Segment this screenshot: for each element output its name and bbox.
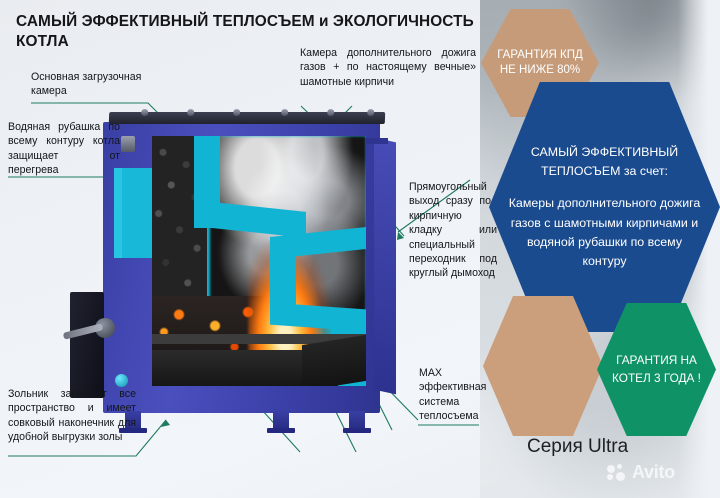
avito-wordmark: Avito <box>632 462 675 483</box>
boiler-side-panel <box>374 138 396 395</box>
indicator-lamp <box>115 374 128 387</box>
callout-ash-pan: Зольник занимает все пространство и имее… <box>8 387 136 445</box>
boiler-door <box>70 292 104 398</box>
boiler-valve <box>121 136 135 152</box>
badge-main-title: САМЫЙ ЭФФЕКТИВНЫЙ ТЕПЛОСЪЕМ за счет: <box>505 143 704 181</box>
callout-flue-outlet: Прямоугольный выход сразу под кирпичную … <box>409 180 497 281</box>
badge-main-spacer <box>505 181 704 194</box>
boiler-illustration <box>103 122 380 413</box>
ash-pan-side <box>302 335 366 386</box>
boiler-top-bar <box>109 112 385 124</box>
callout-water-jacket: Водяная рубашка по всему контуру котла з… <box>8 120 120 178</box>
water-jacket-edge <box>114 168 122 258</box>
series-label: Серия Ultra <box>527 436 628 458</box>
badge-warranty-text: ГАРАНТИЯ НА КОТЕЛ 3 ГОДА ! <box>597 352 716 387</box>
boiler-foot <box>343 428 371 433</box>
callout-main-chamber: Основная загрузочная камера <box>31 70 169 99</box>
badge-main-body: Камеры дополнительного дожига газов с ша… <box>505 194 704 271</box>
avito-logo-icon <box>607 464 628 481</box>
boiler-foot <box>267 428 295 433</box>
promo-banner: САМЫЙ ЭФФЕКТИВНЫЙ ТЕПЛОСЪЕМ и ЭКОЛОГИЧНО… <box>0 0 720 498</box>
avito-watermark: Avito <box>607 462 675 483</box>
callout-afterburn-chamber: Камера дополнительного дожига газов + по… <box>300 46 476 89</box>
badge-efficiency-text: ГАРАНТИЯ КПД НЕ НИЖЕ 80% <box>481 48 599 78</box>
badge-main-wrap: САМЫЙ ЭФФЕКТИВНЫЙ ТЕПЛОСЪЕМ за счет: Кам… <box>489 143 720 271</box>
boiler-cutaway <box>152 136 366 386</box>
